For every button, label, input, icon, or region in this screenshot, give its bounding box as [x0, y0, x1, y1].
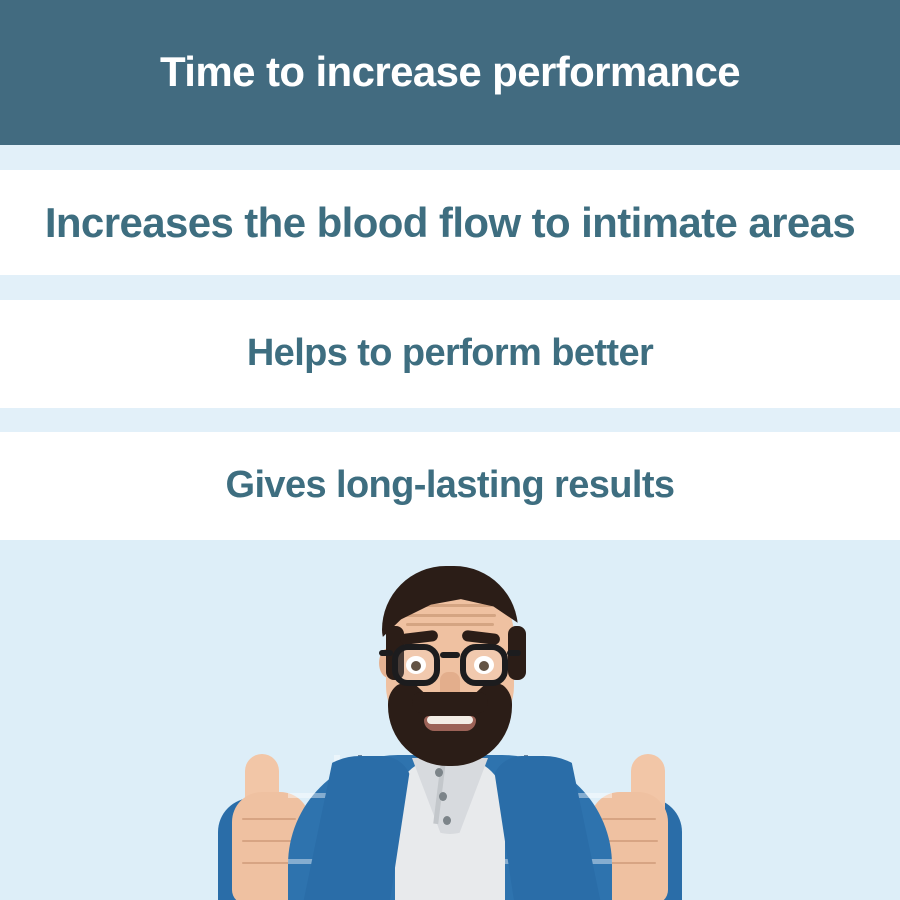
mustache: [412, 692, 488, 714]
glasses-temple: [507, 650, 521, 656]
shirt-button: [443, 816, 451, 825]
shirt-button: [439, 792, 447, 801]
forehead-line: [402, 614, 496, 617]
promo-benefits-card: Time to increase performance Increases t…: [0, 0, 900, 900]
benefit-label: Increases the blood flow to intimate are…: [45, 200, 855, 245]
glasses-icon: [460, 644, 508, 686]
knuckle-line: [602, 840, 658, 842]
separator-band: [0, 408, 900, 432]
glasses-temple: [379, 650, 393, 656]
glasses-bridge: [440, 652, 460, 658]
forehead-line: [406, 623, 494, 626]
benefit-label: Helps to perform better: [247, 333, 653, 374]
glasses-icon: [392, 644, 440, 686]
photo-stage: [0, 540, 900, 900]
shirt-button: [435, 768, 443, 777]
knuckle-line: [242, 818, 296, 820]
knuckle-line: [602, 818, 656, 820]
benefit-label: Gives long-lasting results: [226, 465, 675, 506]
page-title: Time to increase performance: [160, 50, 740, 94]
benefit-row: Increases the blood flow to intimate are…: [0, 170, 900, 275]
separator-band: [0, 275, 900, 300]
hero-photo: Smiling bearded man with glasses giving …: [0, 540, 900, 900]
separator-band: [0, 145, 900, 170]
benefit-row: Helps to perform better: [0, 300, 900, 408]
header-banner: Time to increase performance: [0, 0, 900, 145]
person-illustration: [0, 540, 900, 900]
teeth: [427, 716, 473, 724]
benefit-row: Gives long-lasting results: [0, 432, 900, 540]
